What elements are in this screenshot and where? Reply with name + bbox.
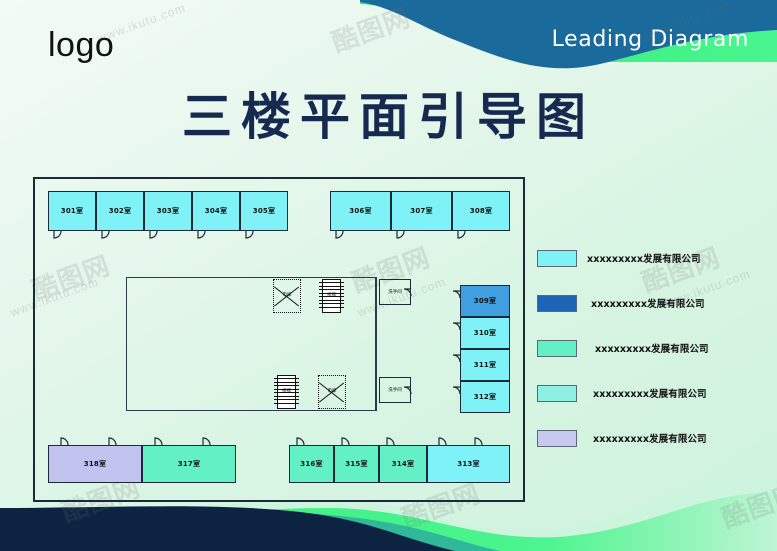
stairs-label: 楼梯	[281, 390, 292, 395]
header-subtitle-en: Leading Diagram	[552, 29, 749, 51]
legend-label: xxxxxxxxx发展有限公司	[587, 251, 701, 265]
floor-plan[interactable]: 301室 302室 303室 304室 305室 306室 307室 308室 …	[33, 177, 525, 502]
stairs-label: 楼梯	[326, 294, 337, 299]
legend-swatch	[537, 295, 577, 312]
elevator-label: 电梯	[282, 294, 293, 299]
legend-item[interactable]: xxxxxxxxx发展有限公司	[537, 291, 762, 315]
elevator-label: 电梯	[327, 390, 338, 395]
legend-item[interactable]: xxxxxxxxx发展有限公司	[537, 381, 762, 405]
legend-label: xxxxxxxxx发展有限公司	[593, 386, 707, 400]
legend-item[interactable]: xxxxxxxxx发展有限公司	[537, 336, 762, 360]
legend: xxxxxxxxx发展有限公司 xxxxxxxxx发展有限公司 xxxxxxxx…	[537, 246, 762, 471]
page-title: 三楼平面引导图	[0, 88, 777, 147]
poster-canvas: logo Leading Diagram 三楼平面引导图 www.ikutu.c…	[0, 0, 777, 551]
watermark: 酷图网	[716, 473, 777, 535]
legend-item[interactable]: xxxxxxxxx发展有限公司	[537, 246, 762, 270]
legend-swatch	[537, 385, 577, 402]
door-symbols	[35, 179, 527, 504]
legend-swatch	[537, 340, 577, 357]
legend-label: xxxxxxxxx发展有限公司	[595, 341, 709, 355]
logo-text: logo	[48, 28, 114, 62]
legend-item[interactable]: xxxxxxxxx发展有限公司	[537, 426, 762, 450]
legend-swatch	[537, 250, 577, 267]
legend-label: xxxxxxxxx发展有限公司	[591, 296, 705, 310]
legend-swatch	[537, 430, 577, 447]
legend-label: xxxxxxxxx发展有限公司	[593, 431, 707, 445]
watermark: 酷图网	[326, 0, 415, 60]
